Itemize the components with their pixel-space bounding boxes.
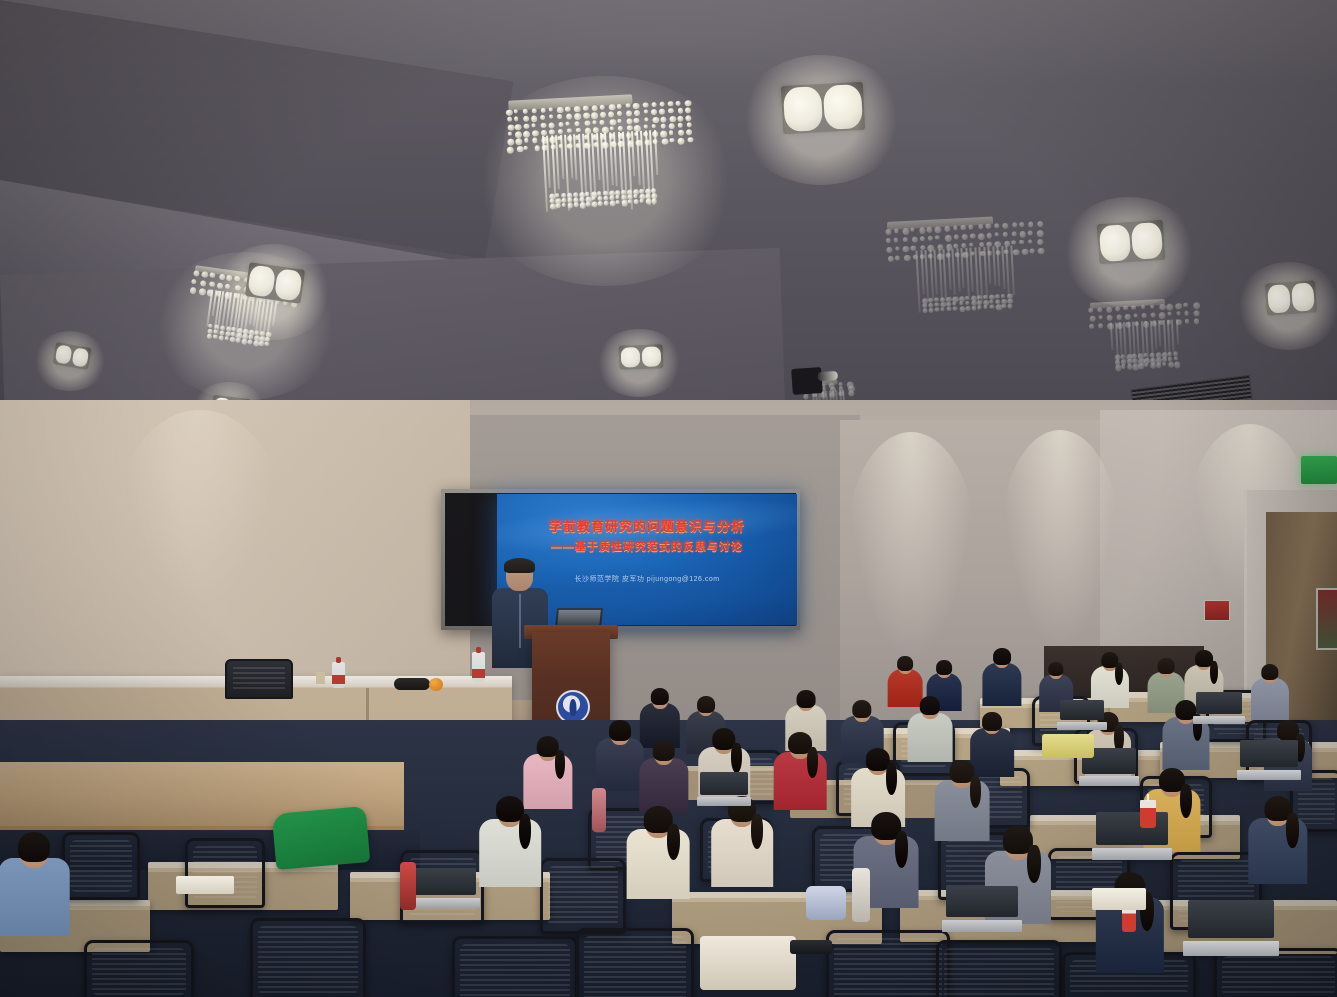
student — [479, 796, 541, 893]
student-hair — [651, 688, 669, 705]
student-torso — [711, 819, 773, 887]
slide-title-line2: ——基于质性研究范式的反思与讨论 — [497, 538, 797, 554]
student — [0, 832, 69, 943]
yellow-folder — [1042, 734, 1094, 758]
water-bottle — [592, 788, 606, 832]
student-ponytail — [1027, 845, 1040, 883]
glasses-icon — [508, 571, 531, 577]
slide-title-line1: 学前教育研究的问题意识与分析 — [497, 516, 797, 535]
student-chair[interactable] — [826, 930, 950, 997]
downlight-glow — [33, 331, 107, 391]
student-laptop — [1240, 740, 1298, 780]
audience-area — [0, 600, 1337, 997]
drink-cup — [1140, 800, 1156, 828]
thermos-bottle — [852, 868, 870, 922]
student-chair[interactable] — [540, 858, 626, 934]
ceiling-camera-icon — [791, 367, 823, 395]
student-laptop — [1060, 700, 1104, 730]
student — [908, 696, 953, 766]
student-laptop — [414, 868, 476, 908]
student — [627, 806, 690, 905]
student-ponytail — [555, 750, 565, 779]
student-torso — [479, 819, 541, 887]
downlight-glow — [739, 55, 903, 185]
student-laptop — [1096, 812, 1168, 860]
student-torso — [1251, 678, 1289, 720]
student-ponytail — [970, 776, 981, 808]
student-laptop — [1188, 900, 1274, 956]
notebook — [176, 876, 234, 894]
student-ponytail — [1286, 813, 1298, 847]
notebook — [1092, 888, 1146, 910]
exit-sign — [1301, 456, 1337, 484]
laptop-base — [1079, 776, 1139, 786]
student-torso — [627, 829, 690, 898]
student-torso — [935, 780, 990, 841]
wall-wash-glow — [120, 410, 280, 610]
student-hair — [982, 712, 1002, 731]
laptop-base — [1092, 848, 1173, 860]
student-hair — [1048, 662, 1063, 676]
student-chair[interactable] — [62, 832, 140, 900]
laptop-lid — [700, 772, 748, 795]
laptop-lid — [1096, 812, 1168, 845]
student — [1251, 664, 1289, 724]
student-hair — [852, 700, 871, 718]
student-hair — [920, 696, 940, 715]
student — [774, 732, 827, 815]
student-hair — [897, 656, 913, 671]
student-ponytail — [1210, 661, 1218, 684]
student-torso — [0, 858, 69, 936]
student-laptop — [700, 772, 748, 806]
student-hair — [653, 740, 675, 761]
student-ponytail — [886, 763, 897, 794]
student-ponytail — [667, 824, 680, 860]
student-torso — [982, 663, 1021, 706]
laptop-lid — [1060, 700, 1104, 720]
student-hair — [993, 648, 1011, 665]
student-chair[interactable] — [452, 936, 578, 997]
tote-bag — [700, 936, 796, 990]
green-jacket — [272, 806, 371, 870]
laptop-base — [697, 797, 751, 806]
student-hair — [797, 690, 816, 708]
laptop-lid — [1188, 900, 1274, 938]
student — [1248, 796, 1307, 889]
student-chair[interactable] — [84, 940, 194, 997]
student-hair — [1261, 664, 1278, 680]
student — [982, 648, 1021, 710]
student-torso — [1162, 717, 1209, 769]
downlight-glow — [1061, 197, 1197, 307]
student — [935, 760, 990, 846]
laptop-lid — [1196, 692, 1242, 714]
lecture-hall-photograph: 学前教育研究的问题意识与分析 ——基于质性研究范式的反思与讨论 长沙师范学院 皮… — [0, 0, 1337, 997]
student-hair — [1158, 658, 1175, 674]
smartphone — [790, 940, 832, 954]
laptop-base — [1237, 770, 1302, 780]
downlight-glow — [214, 244, 332, 340]
student-torso — [596, 738, 644, 791]
downlight-glow — [595, 329, 683, 397]
laptop-base — [1183, 941, 1279, 956]
laptop-base — [942, 920, 1023, 932]
student — [596, 720, 644, 796]
laptop-lid — [414, 868, 476, 895]
downlight-glow — [1236, 262, 1337, 350]
student-chair[interactable] — [936, 940, 1062, 997]
laptop-lid — [1240, 740, 1298, 767]
laptop-lid — [946, 886, 1018, 917]
student-torso — [774, 752, 827, 810]
student-chair[interactable] — [185, 838, 265, 908]
student-chair[interactable] — [250, 918, 366, 997]
student-torso — [1248, 818, 1307, 884]
student-hair — [936, 660, 952, 675]
student-torso — [639, 758, 688, 813]
student-laptop — [1196, 692, 1242, 724]
student-hair — [697, 696, 715, 713]
student-laptop — [946, 886, 1018, 932]
laptop-base — [1057, 722, 1106, 730]
student-ponytail — [807, 747, 818, 778]
student-ponytail — [731, 743, 742, 773]
water-bottle — [400, 862, 416, 910]
student-hair — [609, 720, 631, 741]
student-torso — [908, 713, 953, 763]
laptop-base — [1193, 716, 1245, 724]
backpack — [806, 886, 846, 920]
student — [711, 796, 773, 893]
student-ponytail — [1180, 784, 1192, 817]
student-hair — [18, 832, 50, 862]
laptop-base — [410, 898, 479, 908]
student-chair[interactable] — [576, 928, 694, 997]
